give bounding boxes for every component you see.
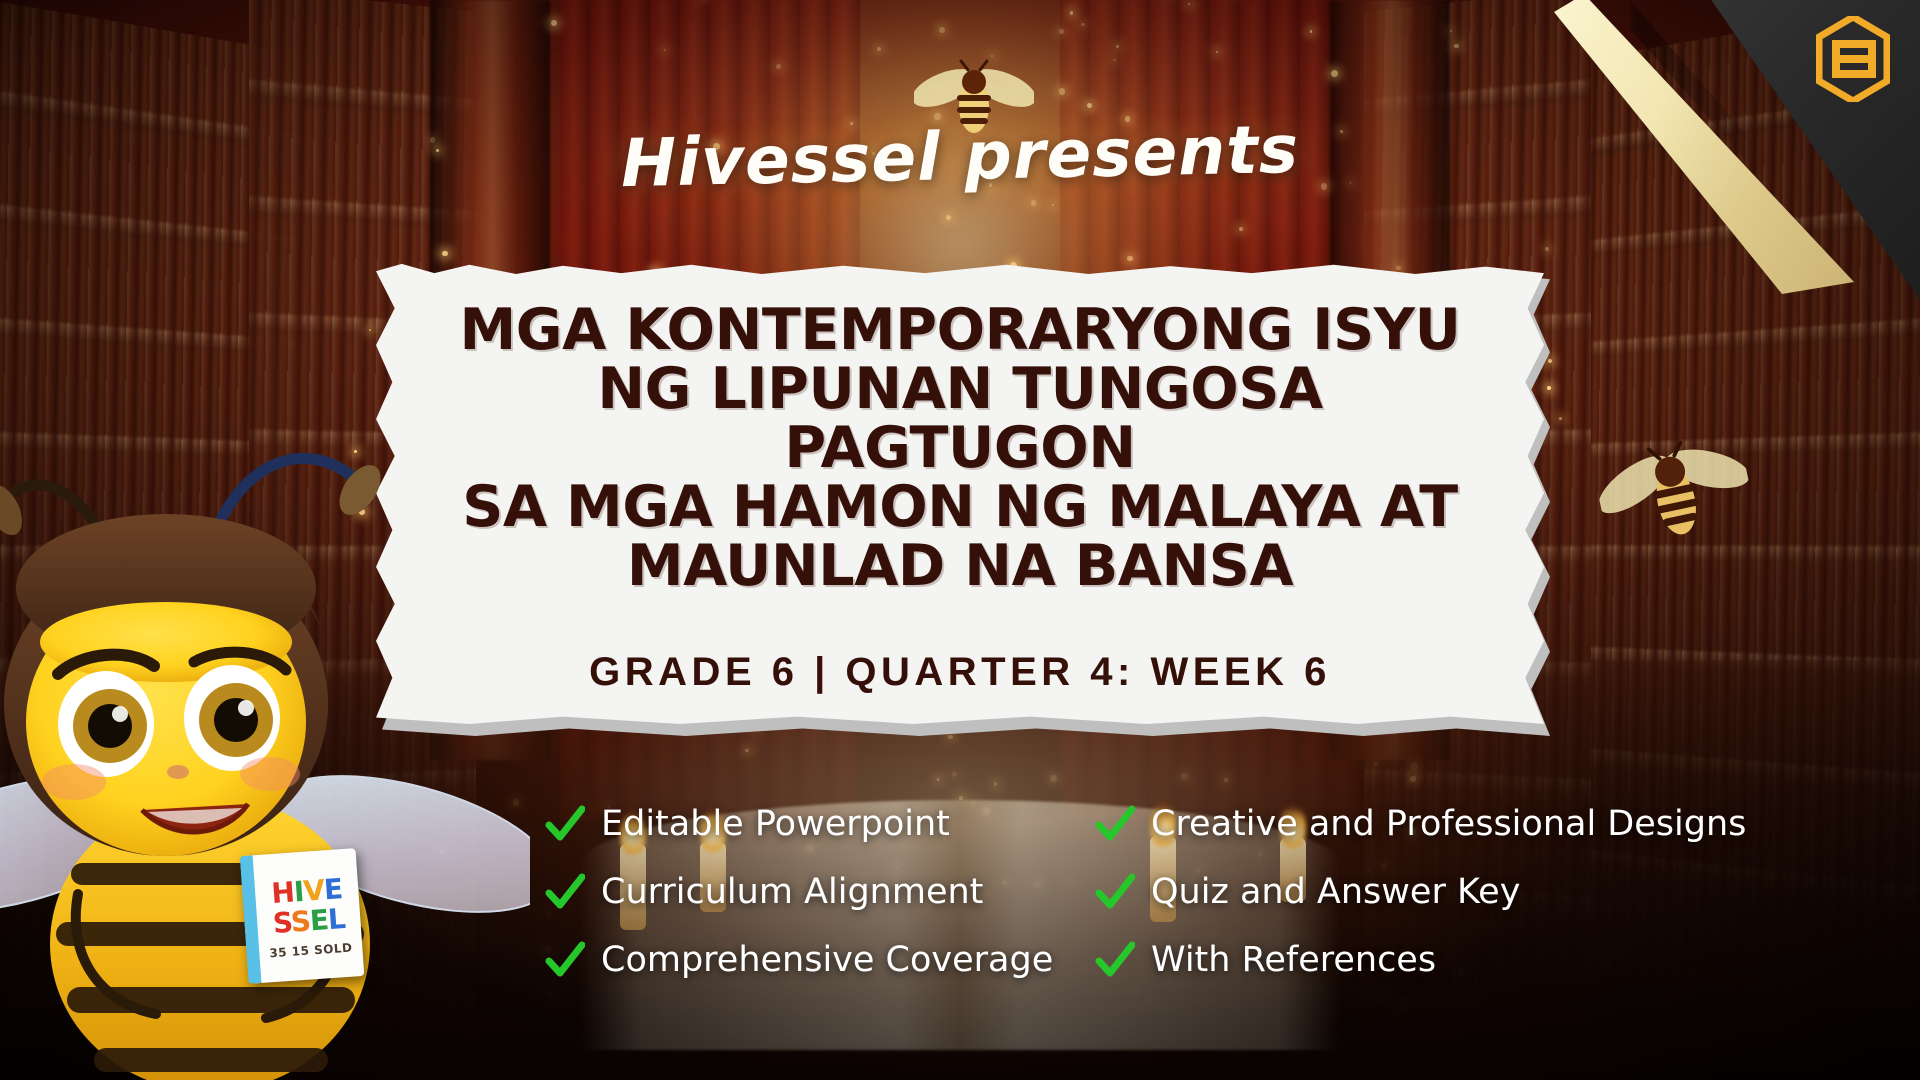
- title-line: MAUNLAD NA BANSA: [455, 537, 1465, 596]
- grade-quarter-week-subtitle: GRADE 6 | QUARTER 4: WEEK 6: [589, 650, 1331, 695]
- presents-heading: Hivessel presents: [620, 111, 1299, 202]
- list-item: Quiz and Answer Key: [1095, 858, 1885, 926]
- title-card: MGA KONTEMPORARYONG ISYU NG LIPUNAN TUNG…: [376, 262, 1544, 724]
- title-line: SA MGA HAMON NG MALAYA AT: [455, 478, 1465, 537]
- page-title: MGA KONTEMPORARYONG ISYU NG LIPUNAN TUNG…: [455, 301, 1465, 596]
- hivessel-book-icon: HIVE SSEL 35 15 SOLD: [240, 848, 365, 984]
- feature-list: Editable Powerpoint Creative and Profess…: [545, 790, 1885, 994]
- feature-label: Editable Powerpoint: [601, 804, 950, 844]
- feature-label: With References: [1151, 940, 1436, 980]
- green-check-icon: [545, 804, 585, 844]
- presentation-slide: Hivessel presents MGA KONTEMPORARYONG IS…: [0, 0, 1920, 1080]
- green-check-icon: [1095, 804, 1135, 844]
- list-item: Creative and Professional Designs: [1095, 790, 1885, 858]
- feature-label: Curriculum Alignment: [601, 872, 983, 912]
- feature-label: Quiz and Answer Key: [1151, 872, 1520, 912]
- list-item: Curriculum Alignment: [545, 858, 1035, 926]
- book-sold-label: 35 15 SOLD: [269, 941, 353, 961]
- green-check-icon: [545, 872, 585, 912]
- book-title-line2: SSEL: [272, 905, 346, 938]
- list-item: With References: [1095, 926, 1885, 994]
- hexagon-bee-logo-icon[interactable]: [1816, 16, 1890, 102]
- title-line: NG LIPUNAN TUNGOSA PAGTUGON: [455, 360, 1465, 478]
- feature-label: Creative and Professional Designs: [1151, 804, 1746, 844]
- green-check-icon: [1095, 872, 1135, 912]
- list-item: Comprehensive Coverage: [545, 926, 1035, 994]
- title-line: MGA KONTEMPORARYONG ISYU: [455, 301, 1465, 360]
- green-check-icon: [545, 940, 585, 980]
- list-item: Editable Powerpoint: [545, 790, 1035, 858]
- feature-label: Comprehensive Coverage: [601, 940, 1053, 980]
- green-check-icon: [1095, 940, 1135, 980]
